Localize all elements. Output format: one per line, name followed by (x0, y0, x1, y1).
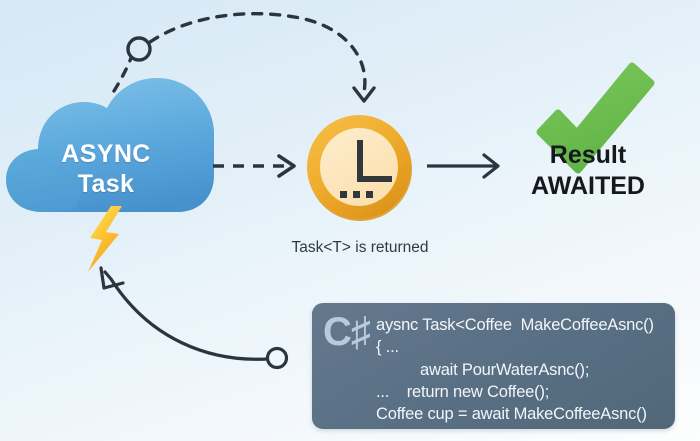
code-line: Coffee cup = await MakeCoffeeAsnc() (376, 406, 647, 423)
code-line: aysnc Task<Coffee MakeCoffeeAsnc() (376, 317, 654, 334)
dashed-arrow-cloud-to-clock (213, 156, 294, 176)
code-line: { ... (376, 339, 399, 356)
curved-arrow-code-to-cloud (101, 268, 287, 368)
code-line: await PourWaterAsnc(); (420, 362, 589, 379)
clock-coin-icon (307, 115, 412, 221)
result-label-line2: AWAITED (500, 174, 676, 199)
cloud-label-task: Task (0, 172, 212, 197)
clock-caption: Task<T> is returned (248, 240, 472, 256)
csharp-code-panel: C♯ aysnc Task<Coffee MakeCoffeeAsnc() { … (312, 303, 675, 429)
result-label-line1: Result (500, 143, 676, 168)
diagram-canvas: ASYNC Task Task<T> is returned Result AW… (0, 0, 700, 441)
arrow-clock-to-result (427, 155, 498, 177)
code-line: ... return new Coffee(); (376, 384, 549, 401)
cloud-label-async: ASYNC (0, 142, 212, 167)
lightning-bolt-icon (88, 206, 122, 272)
